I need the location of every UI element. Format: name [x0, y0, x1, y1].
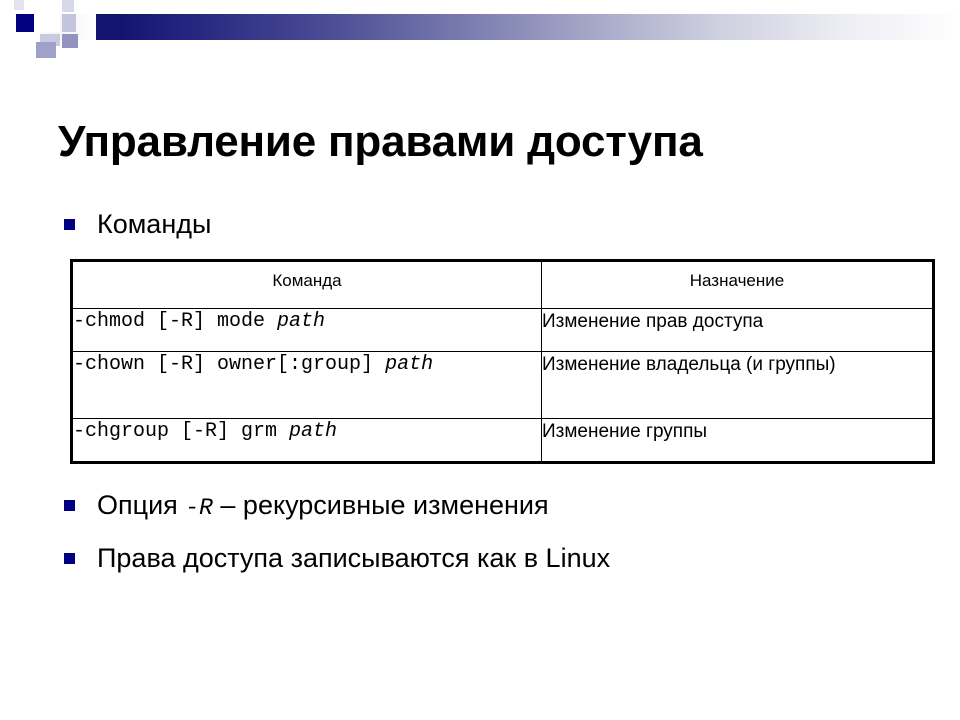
table-row: -chmod [-R] mode pathИзменение прав дост…	[72, 309, 934, 352]
decorative-square	[62, 14, 76, 32]
bullet-label-recursive-option: Опция -R – рекурсивные изменения	[97, 488, 549, 525]
header-gradient-bar	[0, 14, 960, 40]
command-syntax: -chmod [-R] mode	[73, 310, 277, 333]
decorative-square	[36, 14, 60, 32]
square-bullet-icon	[64, 219, 75, 230]
decorative-square	[26, 0, 36, 10]
decorative-square	[38, 0, 60, 12]
commands-table-container: Команда Назначение -chmod [-R] mode path…	[70, 259, 932, 464]
table-row: -chown [-R] owner[:group] pathИзменение …	[72, 352, 934, 419]
table-header-row: Команда Назначение	[72, 261, 934, 309]
decorative-square	[36, 42, 56, 58]
page-title: Управление правами доступа	[58, 115, 918, 169]
command-argument: path	[277, 310, 325, 333]
column-header-command: Команда	[72, 261, 542, 309]
table-cell-purpose: Изменение группы	[542, 419, 934, 463]
table-cell-purpose: Изменение владельца (и группы)	[542, 352, 934, 419]
decorative-square	[62, 34, 78, 48]
command-syntax: -chown [-R] owner[:group]	[73, 353, 385, 376]
column-header-purpose: Назначение	[542, 261, 934, 309]
bullet-item-linux-permissions: Права доступа записываются как в Linux	[64, 541, 610, 575]
decorative-square	[16, 14, 34, 32]
table-row: -chgroup [-R] grm pathИзменение группы	[72, 419, 934, 463]
command-argument: path	[385, 353, 433, 376]
recursive-option-code: -R	[185, 495, 213, 521]
decorative-square	[0, 14, 16, 40]
command-argument: path	[289, 420, 337, 443]
command-syntax: -chgroup [-R] grm	[73, 420, 289, 443]
header-decoration	[0, 0, 960, 58]
decorative-square	[62, 0, 74, 12]
bullet-label-linux-permissions: Права доступа записываются как в Linux	[97, 541, 610, 575]
recursive-option-prefix: Опция	[97, 490, 185, 520]
table-cell-command: -chgroup [-R] grm path	[72, 419, 542, 463]
recursive-option-suffix: – рекурсивные изменения	[213, 490, 549, 520]
table-cell-purpose: Изменение прав доступа	[542, 309, 934, 352]
commands-table: Команда Назначение -chmod [-R] mode path…	[70, 259, 935, 464]
table-cell-command: -chmod [-R] mode path	[72, 309, 542, 352]
table-cell-command: -chown [-R] owner[:group] path	[72, 352, 542, 419]
bullet-item-recursive-option: Опция -R – рекурсивные изменения	[64, 488, 549, 525]
table-body: -chmod [-R] mode pathИзменение прав дост…	[72, 309, 934, 463]
square-bullet-icon	[64, 500, 75, 511]
bullet-item-commands: Команды	[64, 207, 211, 241]
square-bullet-icon	[64, 553, 75, 564]
decorative-square	[14, 0, 24, 10]
bullet-label-commands: Команды	[97, 207, 211, 241]
